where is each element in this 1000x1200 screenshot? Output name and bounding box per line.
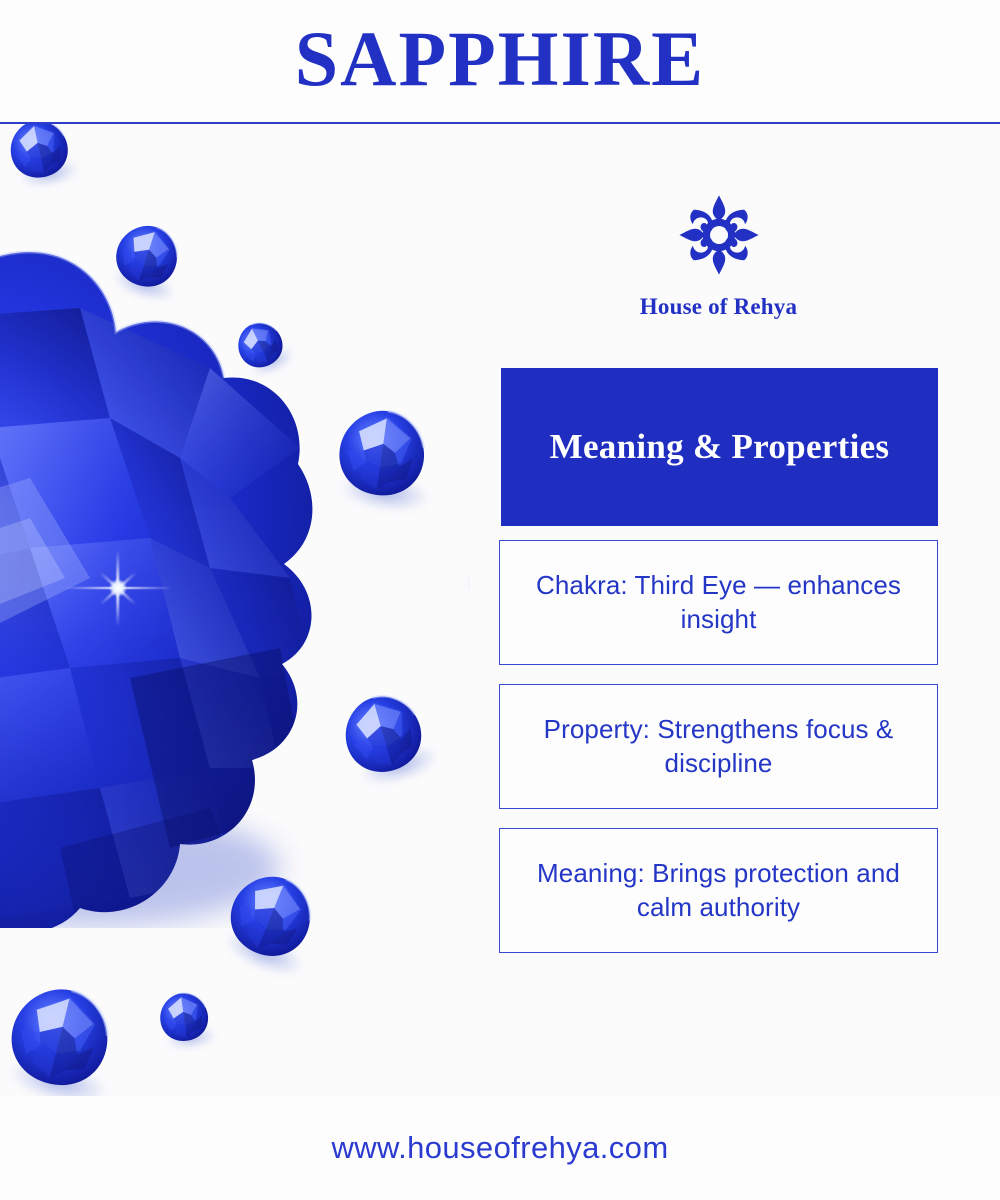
brand-name: House of Rehya [640,294,797,320]
page-title: SAPPHIRE [295,20,705,104]
quatrefoil-medallion-icon [674,190,764,280]
info-card-list: Chakra: Third Eye — enhances insightProp… [499,540,938,953]
header-divider [0,122,1000,124]
footer-bar: www.houseofrehya.com [0,1096,1000,1200]
info-card[interactable]: Property: Strengthens focus & discipline [499,684,938,809]
gem-photo-area [0,123,470,1123]
sapphire-stone-icon [330,401,434,505]
info-card-text: Property: Strengthens focus & discipline [524,713,913,780]
section-heading-box: Meaning & Properties [501,368,938,526]
info-card-text: Chakra: Third Eye — enhances insight [524,569,913,636]
poster-canvas: SAPPHIRE [0,0,1000,1200]
sapphire-stone-icon [0,974,123,1100]
info-card[interactable]: Meaning: Brings protection and calm auth… [499,828,938,953]
section-heading-text: Meaning & Properties [550,427,890,467]
sapphire-stone-icon [332,683,433,784]
sapphire-stone-icon [2,123,76,186]
info-card-text: Meaning: Brings protection and calm auth… [524,857,913,924]
info-card[interactable]: Chakra: Third Eye — enhances insight [499,540,938,665]
sapphire-stone-icon [155,988,214,1047]
header-bar: SAPPHIRE [0,0,1000,123]
website-url[interactable]: www.houseofrehya.com [331,1130,668,1166]
brand-block: House of Rehya [499,190,938,320]
sapphire-stone-icon [462,541,470,601]
